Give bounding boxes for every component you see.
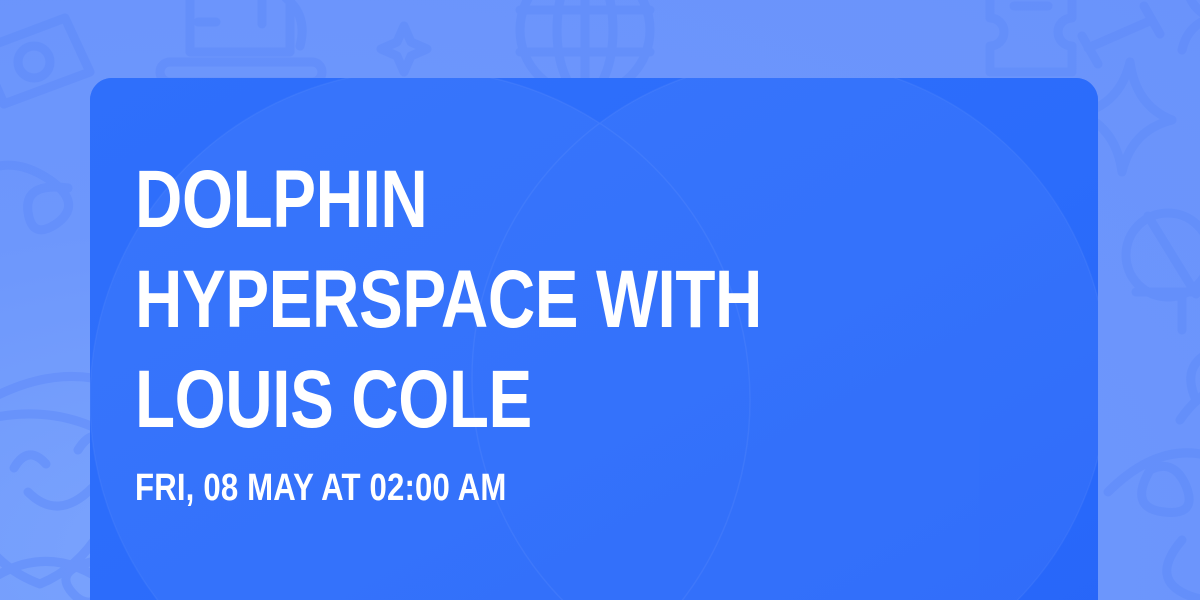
dumbbell-icon	[1082, 6, 1160, 64]
swirl-line-icon	[0, 165, 69, 230]
event-banner: Dolphin Hyperspace with Louis Cole Fri, …	[0, 0, 1200, 600]
swirl-line-icon	[1108, 348, 1200, 600]
ticket-icon	[990, 0, 1072, 72]
camera-icon	[0, 18, 90, 104]
microphone-icon	[1126, 213, 1200, 330]
sparkle-icon	[1182, 0, 1200, 50]
card-content: Dolphin Hyperspace with Louis Cole Fri, …	[135, 78, 1058, 600]
star-icon	[381, 26, 427, 72]
event-date: Fri, 08 May at 02:00 AM	[135, 466, 506, 510]
event-card[interactable]: Dolphin Hyperspace with Louis Cole Fri, …	[90, 78, 1098, 600]
laptop-icon	[160, 0, 322, 82]
event-title: Dolphin Hyperspace with Louis Cole	[135, 150, 807, 450]
